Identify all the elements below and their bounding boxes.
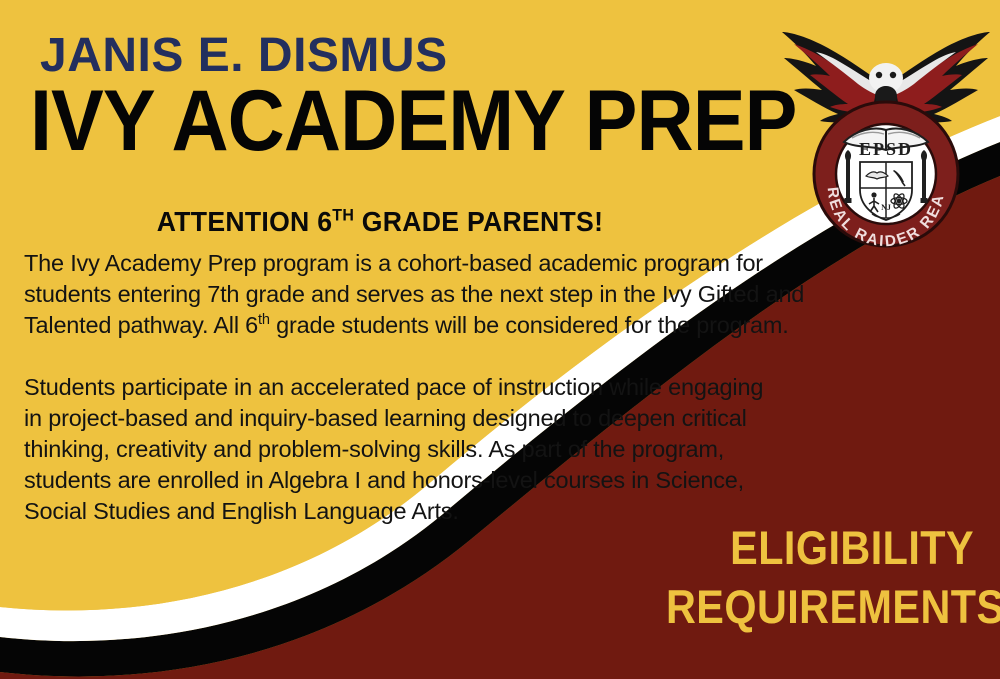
attention-prefix: ATTENTION 6 bbox=[157, 206, 333, 237]
body-text: The Ivy Academy Prep program is a cohort… bbox=[24, 248, 814, 527]
attention-suffix: GRADE PARENTS! bbox=[354, 206, 603, 237]
eligibility-line-2: REQUIREMENTS bbox=[666, 577, 974, 636]
eligibility-line-1: ELIGIBILITY bbox=[666, 518, 974, 577]
attention-superscript: TH bbox=[332, 206, 354, 225]
program-title: IVY ACADEMY PREP bbox=[30, 82, 674, 161]
eagle-eye-right bbox=[890, 72, 896, 78]
attention-headline: ATTENTION 6TH GRADE PARENTS! bbox=[19, 206, 741, 238]
paragraph-one-part-b: grade students will be considered for th… bbox=[270, 312, 789, 338]
crest-initials: EPSD bbox=[859, 139, 913, 159]
paragraph-one-superscript: th bbox=[258, 312, 270, 328]
eligibility-heading: ELIGIBILITY REQUIREMENTS bbox=[666, 518, 974, 636]
header-block: JANIS E. DISMUS IVY ACADEMY PREP bbox=[30, 32, 730, 161]
crest-state-abbr: NJ bbox=[881, 203, 891, 212]
paragraph-two: Students participate in an accelerated p… bbox=[24, 372, 784, 527]
district-logo: A REAL RAIDER READS EPSD bbox=[776, 22, 996, 262]
paragraph-one: The Ivy Academy Prep program is a cohort… bbox=[24, 248, 814, 341]
eagle-eye-left bbox=[876, 72, 882, 78]
flyer-poster: JANIS E. DISMUS IVY ACADEMY PREP ATTENTI… bbox=[0, 0, 1000, 679]
epsd-crest-svg: A REAL RAIDER READS EPSD bbox=[776, 22, 996, 262]
